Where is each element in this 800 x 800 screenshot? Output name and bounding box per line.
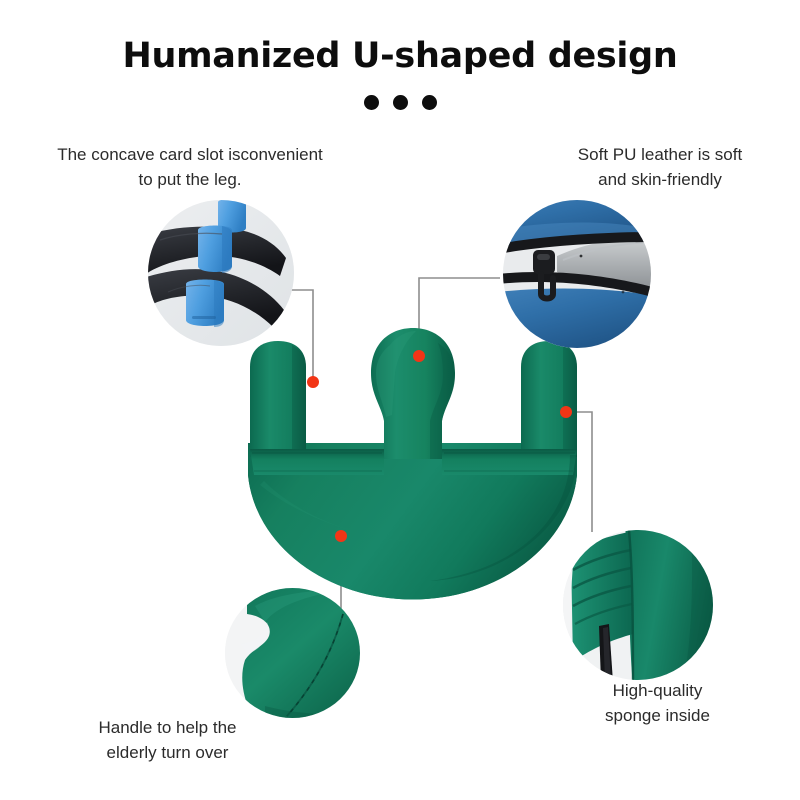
product-illustration xyxy=(240,325,585,605)
marker-dot-soft-pu-leather xyxy=(413,350,425,362)
divider-dot xyxy=(393,95,408,110)
divider-dot xyxy=(422,95,437,110)
u-shaped-cushion-product xyxy=(240,325,585,605)
detail-photo-sponge-layers xyxy=(563,530,713,680)
page-title: Humanized U-shaped design xyxy=(0,36,800,76)
detail-photo-leg-slot xyxy=(148,200,294,346)
caption-high-quality-sponge: High-quality sponge inside xyxy=(545,678,770,728)
detail-photo-handle xyxy=(225,588,360,718)
infographic-page: Humanized U-shaped design xyxy=(0,0,800,800)
caption-soft-pu-leather: Soft PU leather is soft and skin-friendl… xyxy=(535,142,785,192)
marker-dot-turn-over-handle xyxy=(335,530,347,542)
marker-dot-concave-card-slot xyxy=(307,376,319,388)
dot-divider xyxy=(0,95,800,110)
caption-concave-card-slot: The concave card slot isconvenient to pu… xyxy=(30,142,350,192)
marker-dot-high-quality-sponge xyxy=(560,406,572,418)
detail-photo-pu-leather-zipper xyxy=(503,200,651,348)
divider-dot xyxy=(364,95,379,110)
caption-turn-over-handle: Handle to help the elderly turn over xyxy=(55,715,280,765)
